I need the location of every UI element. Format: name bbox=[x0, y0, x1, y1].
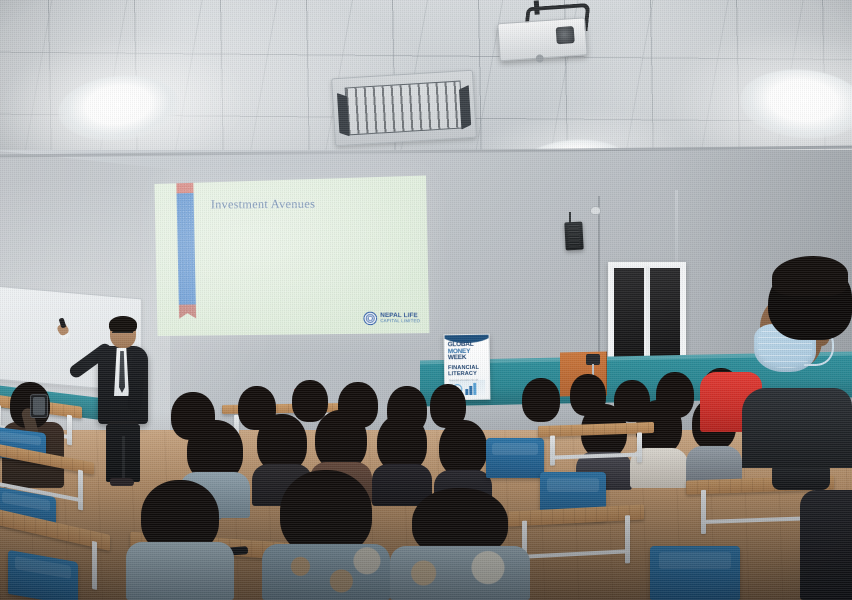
chair-right-back bbox=[486, 438, 544, 478]
audience-member bbox=[520, 378, 562, 430]
audience-member-foreground-left bbox=[126, 480, 234, 600]
ceiling-cassette-ac-icon bbox=[331, 70, 477, 147]
ceiling-light-front-right-icon bbox=[737, 65, 852, 144]
presenter-glasses-icon bbox=[112, 332, 133, 337]
smartphone-icon bbox=[30, 394, 48, 418]
slide-logo-line2: CAPITAL LIMITED bbox=[381, 319, 421, 324]
presentation-slide: Investment Avenues NEPAL LIFE CAPITAL LI… bbox=[154, 175, 429, 336]
banner-subtitle-line2: LITERACY bbox=[448, 371, 486, 378]
chair-right-front bbox=[650, 546, 740, 600]
audience-member-foreground-center bbox=[262, 470, 390, 600]
audience-member-foreground-far-right bbox=[800, 470, 852, 600]
projector-lens-icon bbox=[556, 26, 575, 44]
banner-subtitle: FINANCIAL LITERACY bbox=[448, 365, 486, 378]
projection-screen: Investment Avenues NEPAL LIFE CAPITAL LI… bbox=[154, 175, 429, 336]
desk-right-back bbox=[538, 422, 654, 466]
classroom-photo-scene: Investment Avenues NEPAL LIFE CAPITAL LI… bbox=[0, 0, 852, 600]
banner-headline: GLOBAL MONEY WEEK bbox=[448, 342, 486, 362]
audience-member-with-mask bbox=[742, 262, 852, 462]
nepal-life-logo-icon bbox=[364, 312, 378, 325]
banner-headline-line3: WEEK bbox=[448, 355, 486, 362]
ceiling-light-front-left-icon bbox=[55, 70, 183, 146]
slide-title: Investment Avenues bbox=[211, 196, 315, 212]
slide-logo-line1: NEPAL LIFE bbox=[381, 313, 421, 319]
wall-speaker-icon bbox=[564, 222, 583, 251]
slide-ribbon-graphic bbox=[176, 183, 196, 318]
presenter bbox=[86, 318, 156, 490]
masked-student-shoulders bbox=[742, 388, 852, 468]
audience-member-foreground-right bbox=[390, 488, 530, 600]
slide-logo: NEPAL LIFE CAPITAL LIMITED bbox=[364, 312, 421, 326]
ceiling-dome-camera-icon bbox=[590, 206, 601, 215]
ceiling-projector-icon bbox=[496, 1, 596, 66]
classroom-window bbox=[608, 262, 686, 364]
